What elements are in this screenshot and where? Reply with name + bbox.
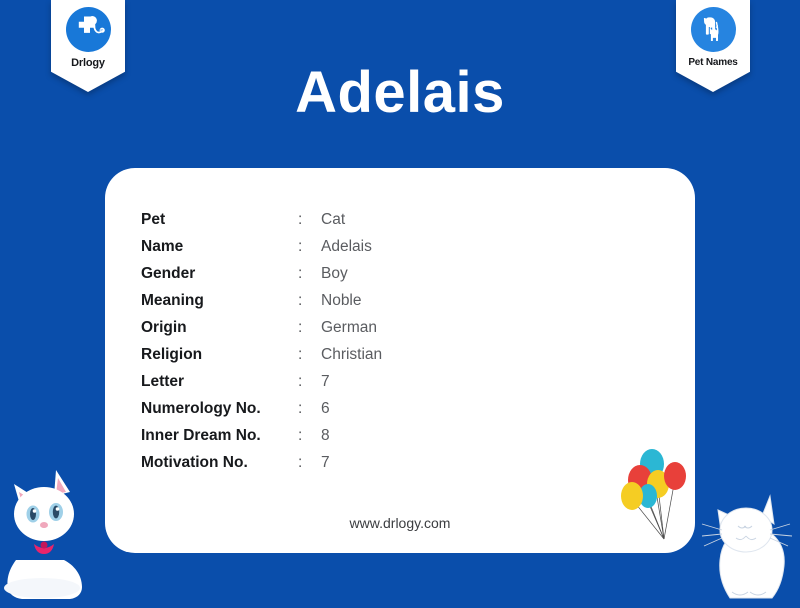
row-label: Inner Dream No. (141, 427, 298, 445)
table-row: Letter : 7 (141, 373, 382, 400)
row-value: Cat (321, 211, 345, 229)
row-separator: : (298, 265, 321, 283)
row-value: 6 (321, 400, 330, 418)
page-title: Adelais (0, 64, 800, 122)
table-row: Origin : German (141, 319, 382, 346)
white-cat-lineart-icon (700, 488, 800, 603)
row-separator: : (298, 373, 321, 391)
row-label: Religion (141, 346, 298, 364)
balloons-decoration (618, 447, 698, 552)
table-row: Inner Dream No. : 8 (141, 427, 382, 454)
row-label: Name (141, 238, 298, 256)
row-separator: : (298, 346, 321, 364)
row-separator: : (298, 454, 321, 472)
row-value: Boy (321, 265, 348, 283)
row-label: Meaning (141, 292, 298, 310)
row-label: Numerology No. (141, 400, 298, 418)
footer-website-url[interactable]: www.drlogy.com (105, 515, 695, 531)
dog-and-cat-logo-icon (695, 12, 731, 48)
white-cat-bowtie-icon (0, 452, 90, 600)
pet-name-info-card: Pet : Cat Name : Adelais Gender : Boy Me… (105, 168, 695, 553)
row-label: Pet (141, 211, 298, 229)
row-value: German (321, 319, 377, 337)
drlogy-medical-cross-logo-icon: P (70, 12, 106, 48)
balloons-icon (618, 447, 698, 547)
row-label: Letter (141, 373, 298, 391)
pet-details-table: Pet : Cat Name : Adelais Gender : Boy Me… (141, 211, 382, 481)
table-row: Numerology No. : 6 (141, 400, 382, 427)
row-value: Christian (321, 346, 382, 364)
table-row: Name : Adelais (141, 238, 382, 265)
row-separator: : (298, 427, 321, 445)
row-value: 8 (321, 427, 330, 445)
white-cat-bowtie-decoration (0, 452, 90, 605)
row-label: Motivation No. (141, 454, 298, 472)
pet-names-logo-circle (691, 7, 736, 52)
table-row: Motivation No. : 7 (141, 454, 382, 481)
row-value: Adelais (321, 238, 372, 256)
row-separator: : (298, 292, 321, 310)
row-separator: : (298, 400, 321, 418)
table-row: Religion : Christian (141, 346, 382, 373)
row-value: 7 (321, 373, 330, 391)
row-separator: : (298, 211, 321, 229)
table-row: Pet : Cat (141, 211, 382, 238)
table-row: Gender : Boy (141, 265, 382, 292)
drlogy-logo-circle: P (66, 7, 111, 52)
table-row: Meaning : Noble (141, 292, 382, 319)
row-separator: : (298, 238, 321, 256)
row-separator: : (298, 319, 321, 337)
row-label: Origin (141, 319, 298, 337)
row-value: 7 (321, 454, 330, 472)
row-value: Noble (321, 292, 362, 310)
white-cat-lineart-decoration (700, 488, 800, 608)
row-label: Gender (141, 265, 298, 283)
